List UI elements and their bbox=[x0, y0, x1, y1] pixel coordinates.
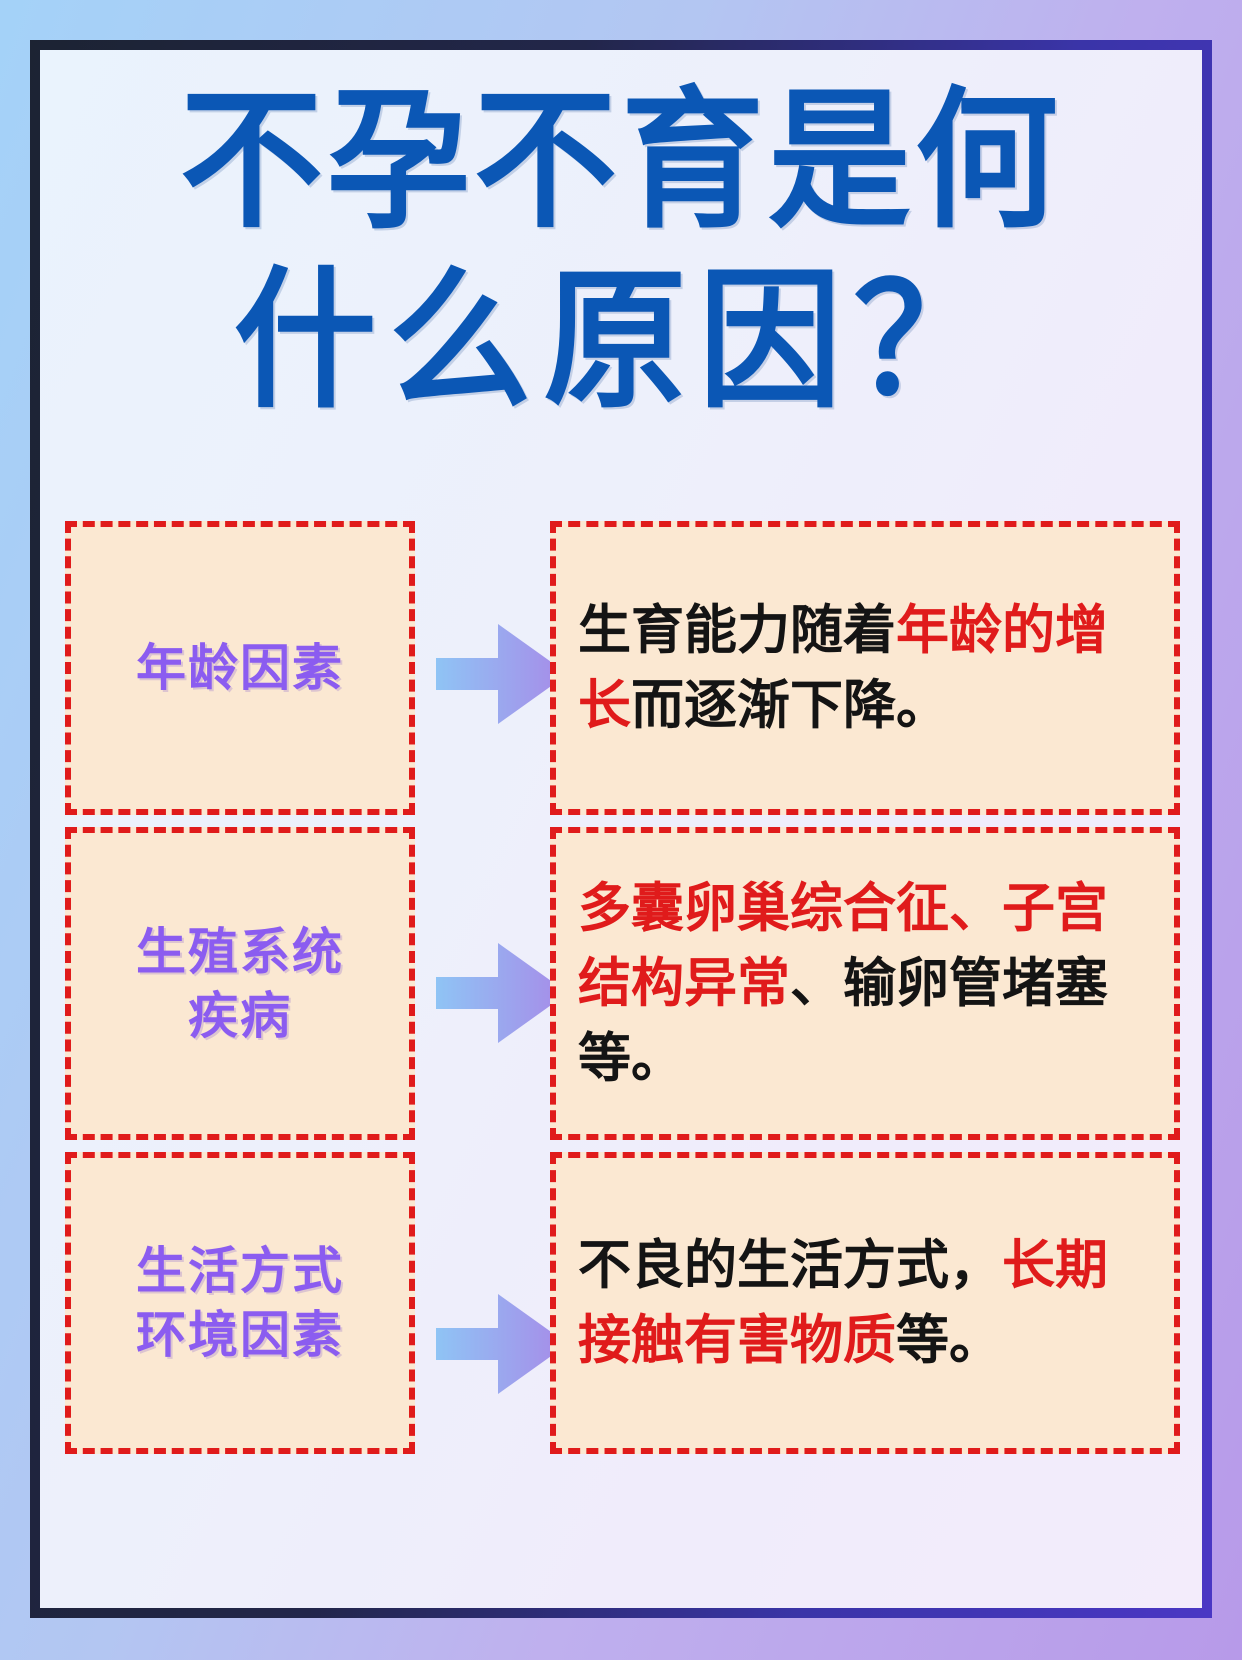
right-arrow-icon bbox=[436, 941, 568, 1045]
cause-row-lifestyle-environment: 生活方式 环境因素 bbox=[40, 1146, 1202, 1460]
desc-segment: 不良的生活方式， bbox=[578, 1236, 1002, 1295]
right-arrow-icon bbox=[436, 622, 568, 726]
page-title: 不孕不育是何 什么原因？ bbox=[40, 70, 1202, 430]
cause-description-box[interactable]: 多囊卵巢综合征、子宫结构异常、输卵管堵塞等。 bbox=[550, 827, 1180, 1140]
cause-description-box[interactable]: 不良的生活方式，长期接触有害物质等。 bbox=[550, 1152, 1180, 1454]
cause-description-text: 多囊卵巢综合征、子宫结构异常、输卵管堵塞等。 bbox=[556, 871, 1174, 1097]
cause-description-box[interactable]: 生育能力随着年龄的增长而逐渐下降。 bbox=[550, 521, 1180, 815]
cause-description-text: 不良的生活方式，长期接触有害物质等。 bbox=[556, 1228, 1174, 1379]
cause-category-box[interactable]: 生殖系统 疾病 bbox=[65, 827, 415, 1140]
poster-panel: 不孕不育是何 什么原因？ 年龄因素 bbox=[40, 50, 1202, 1608]
cause-row-age: 年龄因素 bbox=[40, 515, 1202, 821]
cause-description-text: 生育能力随着年龄的增长而逐渐下降。 bbox=[556, 593, 1174, 744]
infographic-poster: 不孕不育是何 什么原因？ 年龄因素 bbox=[0, 0, 1242, 1660]
title-line-1: 不孕不育是何 bbox=[40, 65, 1202, 256]
cause-category-box[interactable]: 年龄因素 bbox=[65, 521, 415, 815]
cause-row-reproductive-system-disease: 生殖系统 疾病 bbox=[40, 821, 1202, 1146]
desc-segment: 而逐渐下降。 bbox=[631, 676, 949, 735]
desc-segment: 生育能力随着 bbox=[578, 601, 896, 660]
cause-rows: 年龄因素 bbox=[40, 515, 1202, 1460]
poster-frame: 不孕不育是何 什么原因？ 年龄因素 bbox=[30, 40, 1212, 1618]
right-arrow-icon bbox=[436, 1292, 568, 1396]
cause-category-label: 生殖系统 疾病 bbox=[136, 920, 344, 1048]
cause-category-label: 生活方式 环境因素 bbox=[136, 1239, 344, 1367]
title-line-2: 什么原因？ bbox=[40, 245, 1202, 436]
desc-segment: 等。 bbox=[896, 1311, 1002, 1370]
cause-category-label: 年龄因素 bbox=[136, 636, 344, 700]
cause-category-box[interactable]: 生活方式 环境因素 bbox=[65, 1152, 415, 1454]
